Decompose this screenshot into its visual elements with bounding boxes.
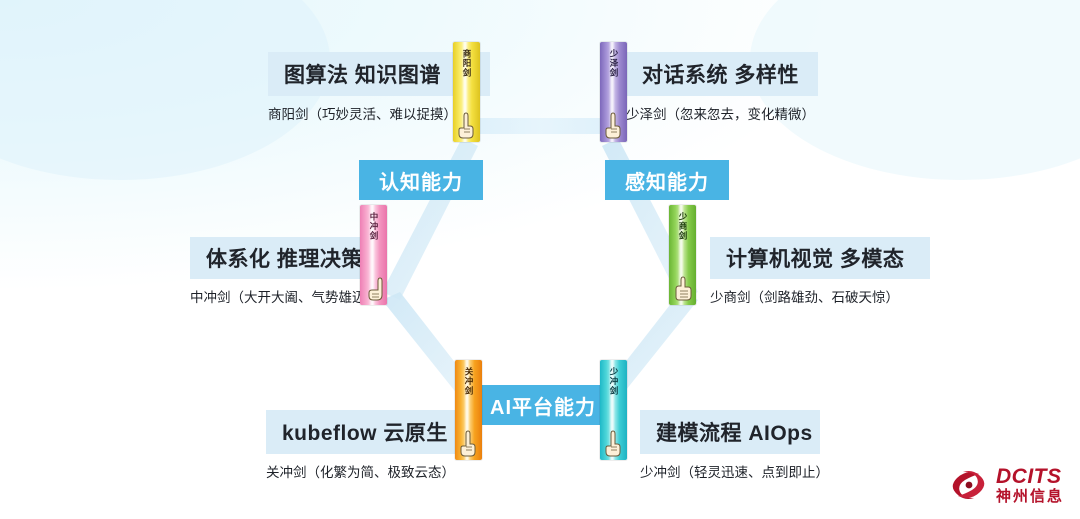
company-logo: DCITS 神州信息: [949, 465, 1064, 505]
card-title-band-kubeflow: kubeflow 云原生: [266, 410, 480, 454]
card-title-modeling-aiops: 建模流程 AIOps: [656, 417, 813, 447]
sword-label-shaochong: 少冲剑: [609, 367, 618, 396]
sword-bar-shaoshang: 少商剑: [669, 205, 696, 305]
card-dialogue-system[interactable]: 对话系统 多样性 少泽剑（忽来忽去，变化精微）: [626, 52, 818, 123]
card-subtitle-modeling-aiops: 少冲剑（轻灵迅速、点到即止）: [640, 461, 829, 481]
card-title-band-dialogue-system: 对话系统 多样性: [626, 52, 818, 96]
card-title-band-reasoning-decision: 体系化 推理决策: [190, 237, 375, 279]
pill-label-ai-platform: AI平台能力: [490, 391, 596, 420]
card-computer-vision[interactable]: 计算机视觉 多模态 少商剑（剑路雄劲、石破天惊）: [710, 237, 930, 306]
sword-label-zhongchong: 中冲剑: [369, 212, 378, 241]
card-title-computer-vision: 计算机视觉 多模态: [726, 243, 904, 273]
sword-label-shangyang: 商阳剑: [462, 49, 471, 78]
sword-label-guanchong: 关冲剑: [464, 367, 473, 396]
logo-text-cn: 神州信息: [996, 489, 1064, 504]
card-modeling-aiops[interactable]: 建模流程 AIOps 少冲剑（轻灵迅速、点到即止）: [640, 410, 829, 481]
diagram-canvas: 图算法 知识图谱 商阳剑（巧妙灵活、难以捉摸） 商阳剑 对话系统 多样性 少泽剑…: [0, 0, 1080, 519]
card-subtitle-kubeflow: 关冲剑（化繁为简、极致云态）: [266, 461, 480, 481]
card-subtitle-dialogue-system: 少泽剑（忽来忽去，变化精微）: [626, 103, 818, 123]
hand-pointing-icon: [603, 428, 625, 458]
card-title-band-computer-vision: 计算机视觉 多模态: [710, 237, 930, 279]
card-title-reasoning-decision: 体系化 推理决策: [206, 243, 363, 273]
card-title-dialogue-system: 对话系统 多样性: [642, 59, 799, 89]
logo-wordmark: DCITS 神州信息: [996, 466, 1064, 504]
dcits-swirl-icon: [949, 465, 989, 505]
background-glow: [0, 0, 1080, 180]
sword-bar-shaoze: 少泽剑: [600, 42, 627, 142]
card-title-band-modeling-aiops: 建模流程 AIOps: [640, 410, 820, 454]
card-subtitle-reasoning-decision: 中冲剑（大开大阖、气势雄迈）: [190, 286, 379, 306]
pill-label-cognitive: 认知能力: [379, 166, 463, 195]
sword-bar-guanchong: 关冲剑: [455, 360, 482, 460]
sword-bar-zhongchong: 中冲剑: [360, 205, 387, 305]
thumbs-up-icon: [672, 273, 694, 303]
hand-pointing-icon: [603, 110, 625, 140]
card-subtitle-computer-vision: 少商剑（剑路雄劲、石破天惊）: [710, 286, 930, 306]
logo-text-en: DCITS: [996, 466, 1064, 487]
pill-perceptive-capability[interactable]: 感知能力: [605, 160, 729, 200]
sword-label-shaoshang: 少商剑: [678, 212, 687, 241]
hand-pointing-icon: [458, 428, 480, 458]
card-reasoning-decision[interactable]: 体系化 推理决策 中冲剑（大开大阖、气势雄迈）: [190, 237, 379, 306]
hand-pointing-icon: [456, 110, 478, 140]
sword-bar-shangyang: 商阳剑: [453, 42, 480, 142]
card-title-knowledge-graph: 图算法 知识图谱: [284, 59, 441, 89]
hand-pointing-icon: [363, 273, 387, 303]
pill-label-perceptive: 感知能力: [625, 166, 709, 195]
pill-cognitive-capability[interactable]: 认知能力: [359, 160, 483, 200]
pill-ai-platform-capability[interactable]: AI平台能力: [474, 385, 612, 425]
card-title-kubeflow: kubeflow 云原生: [282, 417, 448, 447]
sword-bar-shaochong: 少冲剑: [600, 360, 627, 460]
sword-label-shaoze: 少泽剑: [609, 49, 618, 78]
card-kubeflow-cloudnative[interactable]: kubeflow 云原生 关冲剑（化繁为简、极致云态）: [266, 410, 480, 481]
